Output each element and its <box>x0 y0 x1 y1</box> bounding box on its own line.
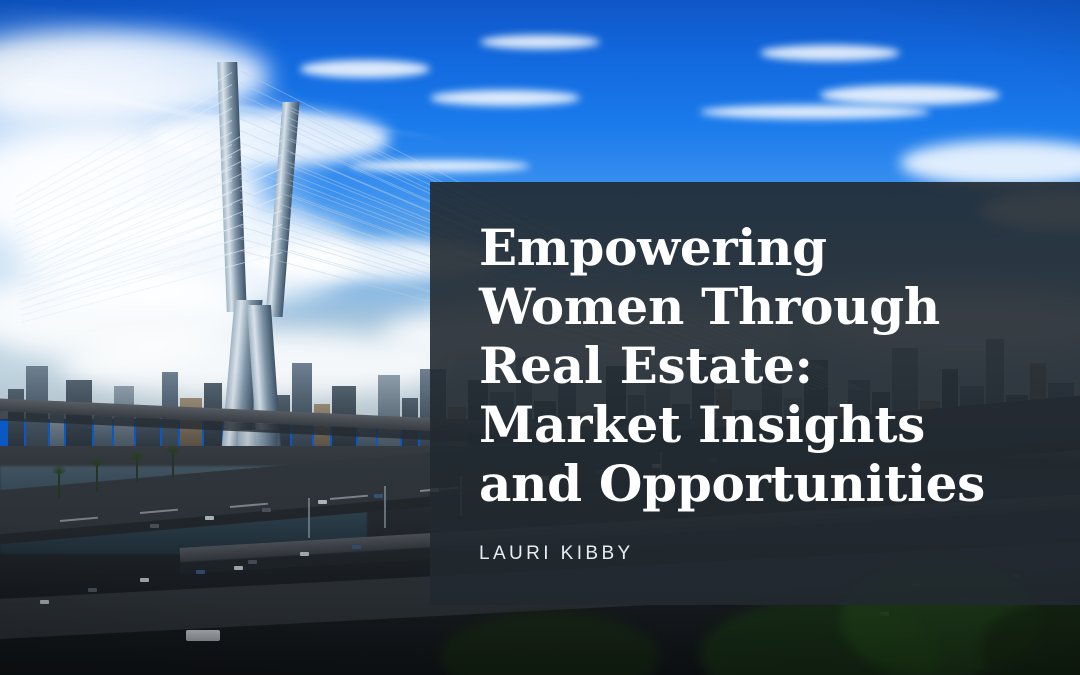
author-name: LAURI KIBBY <box>479 513 1034 565</box>
title-card: Empowering Women Through Real Estate: Ma… <box>0 0 1080 675</box>
page-title: Empowering Women Through Real Estate: Ma… <box>479 218 1034 513</box>
title-overlay-panel: Empowering Women Through Real Estate: Ma… <box>430 182 1080 605</box>
